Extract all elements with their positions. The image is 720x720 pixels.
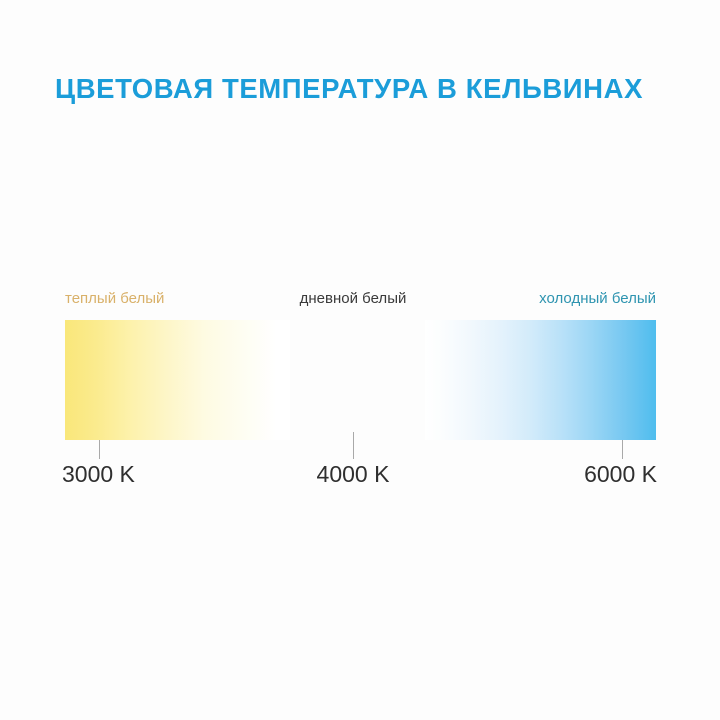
tick-mark-6000k (622, 440, 623, 459)
temperature-label-3000k: 3000 K (62, 461, 135, 488)
caption-cold-white: холодный белый (539, 289, 656, 308)
gradient-bar-cold-white (425, 320, 656, 440)
tick-mark-3000k (99, 440, 100, 459)
temperature-label-6000k: 6000 K (584, 461, 657, 488)
gradient-bar-warm-white (65, 320, 290, 440)
color-temperature-infographic: ЦВЕТОВАЯ ТЕМПЕРАТУРА В КЕЛЬВИНАХ теплый … (0, 0, 720, 720)
tick-mark-4000k (353, 432, 354, 459)
caption-warm-white: теплый белый (65, 289, 164, 308)
caption-neutral-white: дневной белый (300, 289, 407, 308)
temperature-label-4000k: 4000 K (317, 461, 390, 488)
color-temperature-scale: теплый белый дневной белый холодный белы… (0, 0, 720, 720)
